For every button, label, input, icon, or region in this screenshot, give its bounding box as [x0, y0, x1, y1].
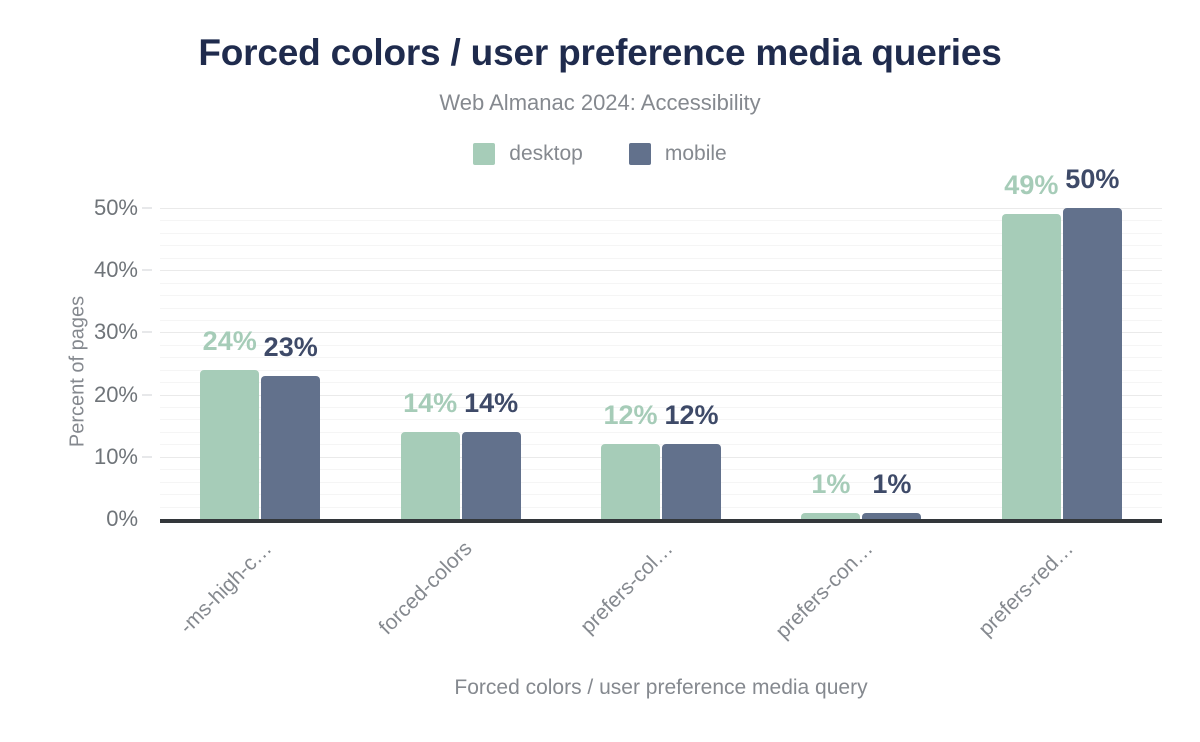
bar-value-label: 49% [1004, 170, 1058, 201]
x-tick-cell: prefers-red… [962, 523, 1162, 643]
bar-group: 14%14% [360, 208, 560, 519]
bar-group: 49%50% [962, 208, 1162, 519]
x-axis: -ms-high-c…forced-colorsprefers-col…pref… [160, 523, 1162, 643]
bar-mobile[interactable]: 12% [662, 444, 721, 519]
y-tick-mark [142, 456, 152, 457]
x-tick-cell: -ms-high-c… [160, 523, 360, 643]
y-tick-mark [142, 208, 152, 209]
bar-value-label: 24% [203, 326, 257, 357]
x-tick-label: prefers-con… [771, 537, 878, 644]
legend-label-desktop: desktop [509, 142, 583, 166]
bar-mobile[interactable]: 50% [1063, 208, 1122, 519]
plot-area: 24%23%14%14%12%12%1%1%49%50% [160, 208, 1162, 519]
x-tick-label: forced-colors [375, 537, 478, 640]
bar-group: 12%12% [561, 208, 761, 519]
y-tick-mark [142, 332, 152, 333]
bar-value-label: 50% [1065, 164, 1119, 195]
bar-mobile[interactable]: 14% [462, 432, 521, 519]
y-tick-label: 30% [94, 319, 138, 345]
y-tick-label: 20% [94, 382, 138, 408]
y-tick-mark [142, 270, 152, 271]
bar-mobile[interactable]: 23% [261, 376, 320, 519]
legend-label-mobile: mobile [665, 142, 727, 166]
chart-legend: desktop mobile [0, 142, 1200, 166]
x-tick-label: prefers-red… [974, 537, 1078, 641]
x-tick-cell: prefers-col… [561, 523, 761, 643]
x-tick-label: prefers-col… [576, 537, 678, 639]
legend-item-desktop[interactable]: desktop [473, 142, 583, 166]
bar-value-label: 1% [872, 469, 911, 500]
bar-group: 24%23% [160, 208, 360, 519]
bar-desktop[interactable]: 24% [200, 370, 259, 519]
bar-value-label: 12% [664, 400, 718, 431]
chart-container: Forced colors / user preference media qu… [0, 0, 1200, 742]
bar-value-label: 14% [403, 388, 457, 419]
y-tick-label: 40% [94, 257, 138, 283]
bar-groups: 24%23%14%14%12%12%1%1%49%50% [160, 208, 1162, 519]
x-tick-cell: prefers-con… [761, 523, 961, 643]
y-axis-title: Percent of pages [67, 262, 90, 482]
x-tick-cell: forced-colors [360, 523, 560, 643]
chart-title: Forced colors / user preference media qu… [0, 32, 1200, 74]
bar-group: 1%1% [761, 208, 961, 519]
y-tick-mark [142, 394, 152, 395]
y-tick-label: 50% [94, 195, 138, 221]
legend-swatch-desktop [473, 143, 495, 165]
x-axis-title: Forced colors / user preference media qu… [160, 676, 1162, 700]
legend-swatch-mobile [629, 143, 651, 165]
bar-desktop[interactable]: 12% [601, 444, 660, 519]
x-tick-label: -ms-high-c… [175, 537, 277, 639]
bar-value-label: 14% [464, 388, 518, 419]
bar-value-label: 1% [811, 469, 850, 500]
chart-subtitle: Web Almanac 2024: Accessibility [0, 90, 1200, 116]
legend-item-mobile[interactable]: mobile [629, 142, 727, 166]
bar-value-label: 23% [264, 332, 318, 363]
bar-desktop[interactable]: 49% [1002, 214, 1061, 519]
bar-desktop[interactable]: 14% [401, 432, 460, 519]
y-tick-label: 0% [106, 506, 138, 532]
bar-value-label: 12% [603, 400, 657, 431]
y-tick-label: 10% [94, 444, 138, 470]
